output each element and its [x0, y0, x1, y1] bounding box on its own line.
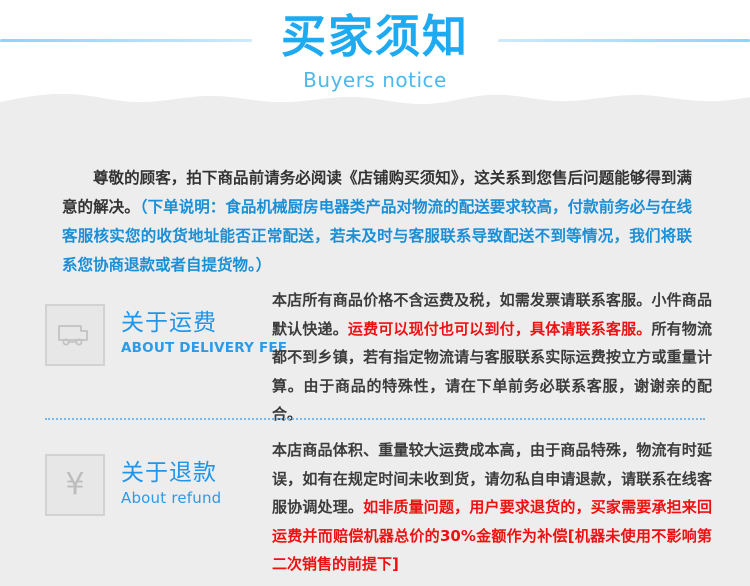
- buyers-notice-page: 买家须知 Buyers notice 尊敬的顾客，拍下商品前请务必阅读《店铺购买…: [0, 0, 750, 586]
- section-refund-left: ¥ 关于退款 About refund: [45, 436, 260, 536]
- page-header: 买家须知 Buyers notice: [0, 0, 750, 112]
- intro-text-blue: （下单说明：食品机械厨房电器类产品对物流的配送要求较高，付款前务必与在线客服核实…: [62, 198, 692, 274]
- yen-icon-box: ¥: [45, 454, 105, 516]
- delivery-body-part-2-red: 运费可以现付也可以到付，具体请联系客服。: [348, 320, 652, 338]
- yen-icon: ¥: [65, 470, 84, 500]
- truck-icon: [57, 323, 93, 347]
- section-delivery-fee-left: 关于运费 ABOUT DELIVERY FEE: [45, 286, 260, 386]
- section-refund-body: 本店商品体积、重量较大运费成本高，由于商品特殊，物流有时延误，如有在规定时间未收…: [272, 436, 712, 579]
- intro-paragraph: 尊敬的顾客，拍下商品前请务必阅读《店铺购买须知》，这关系到您售后问题能够得到满意…: [62, 164, 692, 280]
- section-divider: [45, 418, 705, 420]
- truck-icon-box: [45, 304, 105, 366]
- wave-divider-icon: [0, 88, 750, 112]
- header-title-block: 买家须知 Buyers notice: [0, 0, 750, 92]
- section-delivery-fee-body: 本店所有商品价格不含运费及税，如需发票请联系客服。小件商品默认快递。运费可以现付…: [272, 286, 712, 429]
- page-title: 买家须知: [0, 0, 750, 64]
